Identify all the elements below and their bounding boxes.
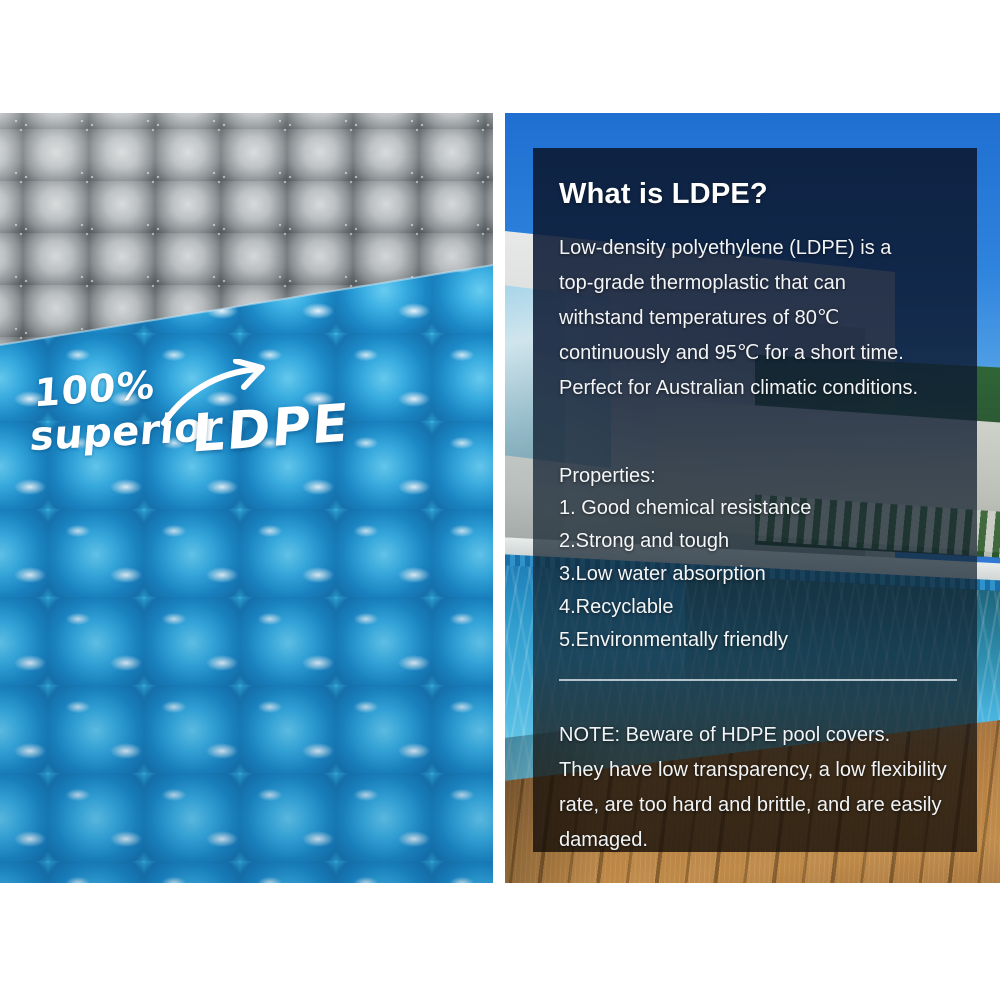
intro-line: top-grade thermoplastic that can — [559, 266, 963, 301]
card-title: What is LDPE? — [559, 178, 768, 211]
list-item: 3.Low water absorption — [559, 558, 963, 591]
list-item: 1. Good chemical resistance — [559, 492, 963, 525]
list-item: 4.Recyclable — [559, 591, 963, 624]
note-line: rate, are too hard and brittle, and are … — [559, 788, 967, 823]
properties-label: Properties: — [559, 460, 656, 493]
note-paragraph: NOTE: Beware of HDPE pool covers. They h… — [559, 718, 967, 858]
intro-line: Low-density polyethylene (LDPE) is a — [559, 231, 963, 266]
bubble-cover-photo: 100% superior LDPE — [0, 113, 493, 883]
intro-paragraph: Low-density polyethylene (LDPE) is a top… — [559, 231, 963, 406]
product-infographic: 100% superior LDPE What is LDPE? — [0, 0, 1000, 1000]
pool-scene-photo: What is LDPE? Low-density polyethylene (… — [505, 113, 1000, 883]
info-card-overlay: What is LDPE? Low-density polyethylene (… — [533, 148, 977, 852]
list-item: 5.Environmentally friendly — [559, 624, 963, 657]
section-divider — [559, 679, 957, 681]
list-item: 2.Strong and tough — [559, 525, 963, 558]
intro-line: continuously and 95℃ for a short time. — [559, 336, 963, 371]
note-line: They have low transparency, a low flexib… — [559, 753, 967, 788]
note-line: NOTE: Beware of HDPE pool covers. — [559, 718, 967, 753]
properties-list: 1. Good chemical resistance 2.Strong and… — [559, 492, 963, 657]
note-line: damaged. — [559, 823, 967, 858]
intro-line: withstand temperatures of 80℃ — [559, 301, 963, 336]
intro-line: Perfect for Australian climatic conditio… — [559, 371, 963, 406]
